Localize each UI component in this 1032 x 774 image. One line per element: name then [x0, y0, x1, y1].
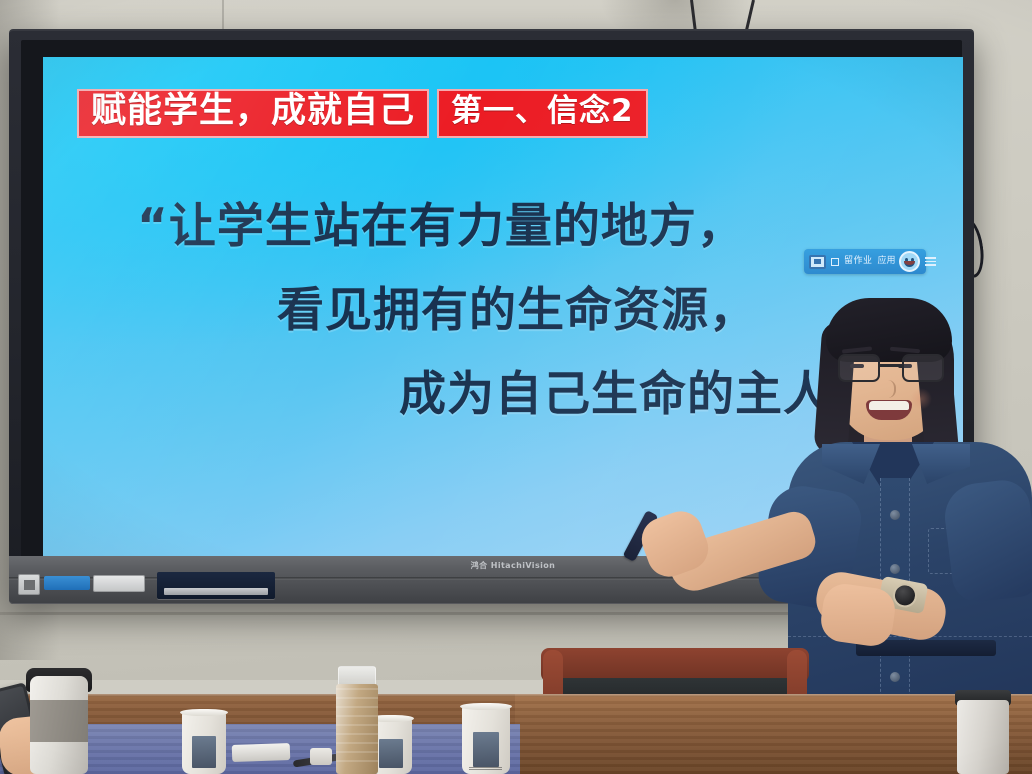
quote-line-1: “让学生站在有力量的地方，: [115, 185, 905, 269]
cup-printed-text: [469, 767, 503, 770]
teeth: [869, 401, 909, 410]
table-edge-highlight: [0, 694, 1032, 697]
blue-asset-tag: [44, 576, 90, 590]
dress-button: [890, 510, 900, 520]
lens-right: [902, 354, 944, 382]
paper-cup-right: [462, 706, 510, 774]
cheek-highlight: [910, 388, 932, 410]
white-info-sticker: [93, 575, 145, 592]
eyeglasses: [838, 354, 944, 382]
smiley-face-icon[interactable]: [899, 251, 920, 272]
table-front-surface: [515, 694, 1032, 774]
dress-button: [890, 672, 900, 682]
window-icon[interactable]: [809, 255, 826, 269]
chair-top-rail: [541, 648, 809, 682]
small-cap: [310, 748, 332, 765]
hamburger-menu-icon[interactable]: [925, 257, 936, 266]
sleeve-right: [941, 477, 1032, 605]
thermos-ridges: [336, 688, 378, 768]
slide-banner: 赋能学生，成就自己 第一、信念2: [77, 89, 648, 138]
square-icon[interactable]: [831, 258, 839, 266]
tumbler-sleeve: [30, 700, 88, 742]
cup-print: [473, 732, 500, 767]
dress-button: [890, 564, 900, 574]
banner-main-title-box: 赋能学生，成就自己: [77, 89, 429, 138]
display-brand-label: 鸿合 HitachiVision: [448, 560, 578, 571]
lens-left: [838, 354, 880, 382]
banner-main-title: 赋能学生，成就自己: [91, 94, 415, 129]
cup-print: [192, 736, 217, 768]
onscreen-floating-toolbar[interactable]: 留作业 应用: [804, 249, 926, 274]
watch-face: [891, 581, 919, 609]
smiling-mouth: [866, 400, 912, 420]
secondary-button-label[interactable]: 应用: [878, 257, 896, 266]
module-slot[interactable]: [157, 572, 275, 599]
glasses-bridge: [880, 364, 902, 367]
remote-control[interactable]: [232, 743, 291, 762]
cup-print: [379, 739, 403, 768]
banner-section-title-box: 第一、信念2: [437, 89, 648, 138]
homework-button-label[interactable]: 留作业: [844, 257, 873, 266]
storage-jar: [957, 700, 1009, 774]
banner-section-title: 第一、信念2: [451, 96, 634, 127]
device-label-sticker: [18, 574, 40, 595]
photo-scene: 赋能学生，成就自己 第一、信念2 “让学生站在有力量的地方， 看见拥有的生命资源…: [0, 0, 1032, 774]
paper-cup-left: [182, 712, 226, 774]
